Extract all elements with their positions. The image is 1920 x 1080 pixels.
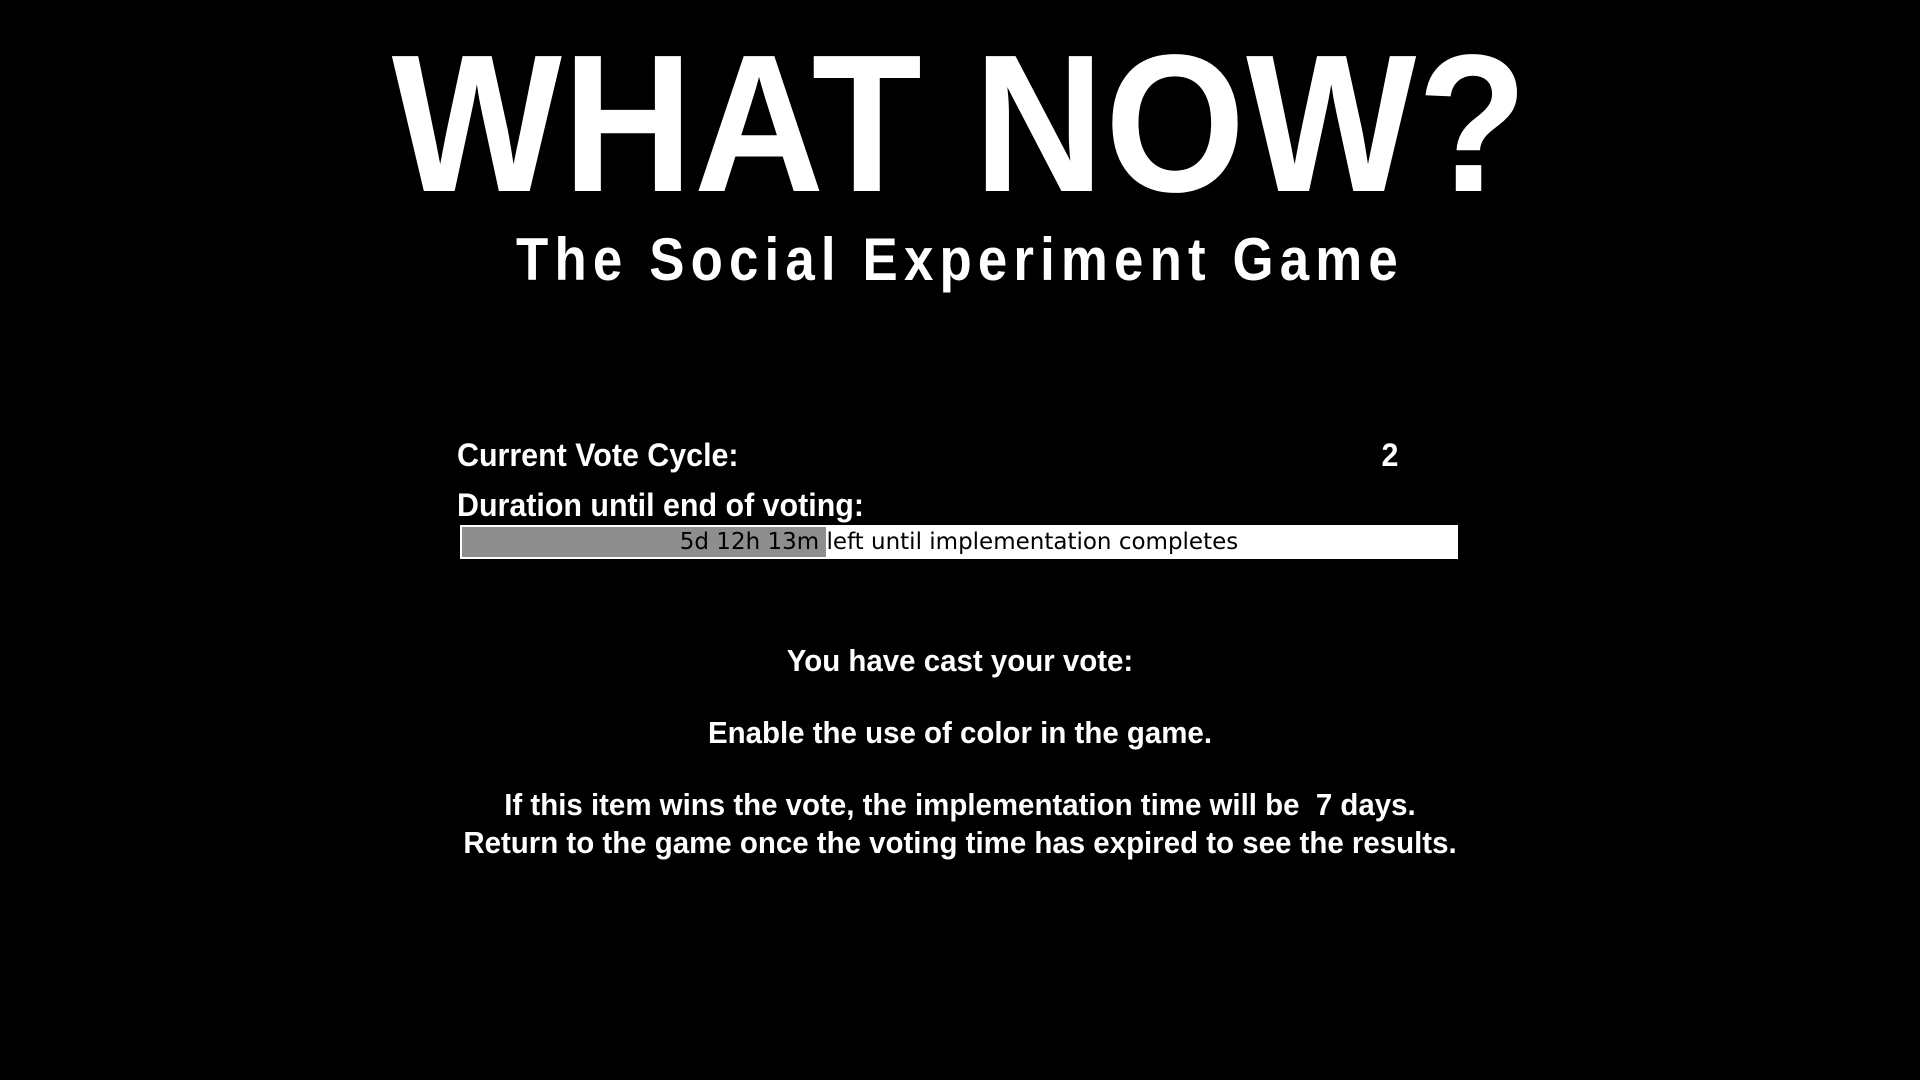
vote-cycle-value: 2: [1382, 430, 1410, 480]
vote-cast-heading: You have cast your vote:: [48, 640, 1872, 682]
vote-note-line-2: Return to the game once the voting time …: [48, 824, 1872, 862]
vote-choice-text: Enable the use of color in the game.: [48, 712, 1872, 754]
vote-note: If this item wins the vote, the implemen…: [48, 786, 1872, 862]
status-block: Current Vote Cycle: 2 Duration until end…: [457, 430, 1460, 530]
voting-duration-row: Duration until end of voting:: [457, 480, 1410, 530]
title-block: WHAT NOW? The Social Experiment Game: [0, 40, 1920, 294]
vote-cycle-label: Current Vote Cycle:: [457, 430, 739, 480]
vote-cycle-row: Current Vote Cycle: 2: [457, 430, 1410, 480]
game-screen: WHAT NOW? The Social Experiment Game Cur…: [0, 0, 1920, 1080]
voting-duration-label: Duration until end of voting:: [457, 487, 864, 523]
vote-note-line-1: If this item wins the vote, the implemen…: [48, 786, 1872, 824]
game-subtitle: The Social Experiment Game: [115, 226, 1805, 294]
voting-progress-label: 5d 12h 13m left until implementation com…: [462, 527, 1456, 557]
game-title: WHAT NOW?: [77, 40, 1843, 208]
vote-info-block: You have cast your vote: Enable the use …: [0, 640, 1920, 862]
voting-progress-bar: 5d 12h 13m left until implementation com…: [460, 525, 1458, 559]
